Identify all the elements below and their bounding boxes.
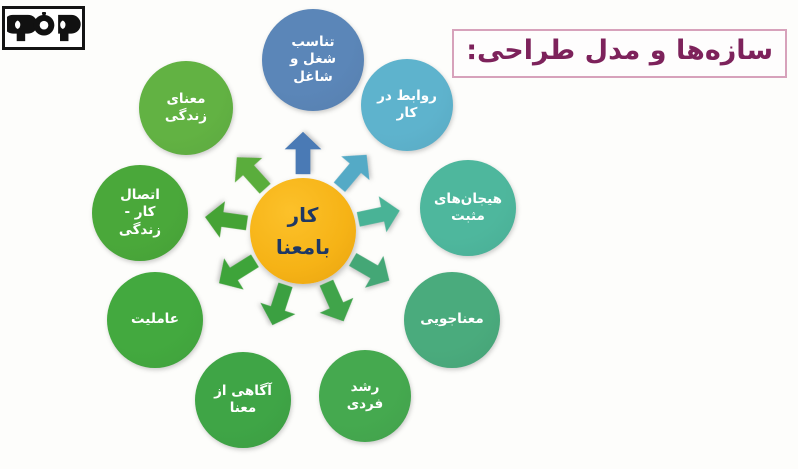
diagram-node-label: معناجویی xyxy=(408,311,496,328)
diagram-node-meaning-of-life[interactable]: معنایزندگی xyxy=(139,61,233,155)
diagram-node-label: روابط درکار xyxy=(365,88,449,123)
slide-canvas: سازه‌ها و مدل طراحی: کار بامعنا تناسبشغل… xyxy=(0,0,798,469)
diagram-node-agency[interactable]: عاملیت xyxy=(107,272,203,368)
diagram-node-positive-emotions[interactable]: هیجان‌هایمثبت xyxy=(420,160,516,256)
diagram-node-work-life-connection[interactable]: اتصالکار -زندگی xyxy=(92,165,188,261)
diagram-node-label: عاملیت xyxy=(111,311,199,328)
diagram-node-relationships-at-work[interactable]: روابط درکار xyxy=(361,59,453,151)
diagram-node-awareness-of-meaning[interactable]: آگاهی ازمعنا xyxy=(195,352,291,448)
diagram-node-label: معنایزندگی xyxy=(143,91,229,126)
diagram-node-label: آگاهی ازمعنا xyxy=(199,383,287,418)
diagram-hub[interactable]: کار بامعنا xyxy=(250,178,356,284)
diagram-node-label: هیجان‌هایمثبت xyxy=(424,191,512,226)
diagram-node-meaning-seeking[interactable]: معناجویی xyxy=(404,272,500,368)
radial-diagram: کار بامعنا تناسبشغل وشاغلروابط درکارهیجا… xyxy=(60,0,540,469)
diagram-node-label: تناسبشغل وشاغل xyxy=(266,34,360,86)
diagram-node-individual-growth[interactable]: رشدفردی xyxy=(319,350,411,442)
diagram-node-job-person-fit[interactable]: تناسبشغل وشاغل xyxy=(262,9,364,111)
spoke-arrow-job-person-fit xyxy=(280,130,326,176)
spoke-arrow-positive-emotions xyxy=(352,188,407,243)
spoke-arrow-work-life-connection xyxy=(200,194,252,246)
diagram-node-label: رشدفردی xyxy=(323,379,407,414)
diagram-node-label: اتصالکار -زندگی xyxy=(96,187,184,239)
hub-label-line-2: بامعنا xyxy=(276,231,330,263)
hub-label-line-1: کار xyxy=(276,199,330,231)
